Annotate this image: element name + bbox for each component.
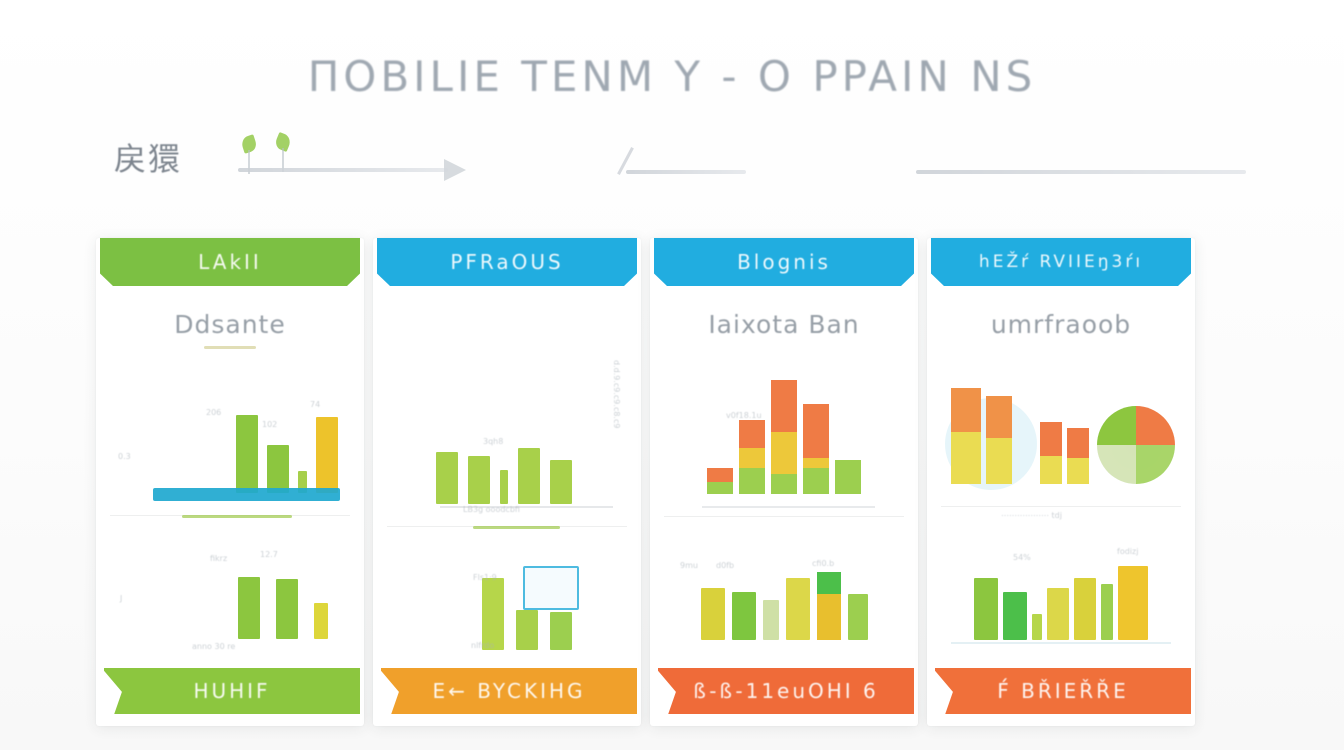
card-1-bottom-banner[interactable]: HUHIF [104, 668, 360, 714]
stacked-bar [786, 578, 810, 640]
card-3-chart-bottom: 9mu d0fb cfi0.b [664, 516, 904, 656]
ghost-label: anno 30 re [192, 642, 235, 651]
bar [276, 579, 298, 639]
bar-chart [387, 530, 627, 650]
bar [1101, 584, 1113, 640]
heading-underline [204, 346, 256, 349]
card-1-top-banner[interactable]: LAkII [100, 238, 360, 286]
ghost-label: Fls1·9 [473, 573, 497, 582]
bar-segment-green [707, 482, 733, 494]
card-4-bottom-banner-label: F́́ BŘIEŘŘE [997, 679, 1128, 703]
tooltip-card [523, 566, 579, 610]
card-2[interactable]: PFRaOUS d.d.9.c9.c9.c8.c9 3qh8 LB3g ooo [373, 238, 641, 726]
bar-segment-green [817, 572, 841, 594]
bar-segment-yellow [1040, 456, 1062, 484]
card-grid: LAkII Ddsante 0.3 206 102 74 [96, 238, 1292, 726]
stacked-bar [763, 600, 779, 640]
bar [468, 456, 490, 504]
bar [550, 612, 572, 650]
card-1-chart-top: 0.3 206 102 74 [110, 359, 350, 509]
divider-line [626, 170, 746, 174]
chart-axis [951, 642, 1172, 644]
bar [518, 448, 540, 504]
subheader-label: 戻獧 [114, 134, 182, 180]
bar [482, 578, 504, 650]
card-4-chart-bottom: ⋯⋯⋯⋯⋯⋯ tdj 54% fodizj [941, 506, 1181, 656]
bar-segment-orange [707, 468, 733, 482]
stacked-bar [986, 396, 1012, 484]
stacked-bar [739, 420, 765, 494]
ghost-label: 9mu [680, 561, 698, 570]
card-2-body: d.d.9.c9.c9.c8.c9 3qh8 LB3g ooodcbfi [373, 286, 641, 726]
bar-segment-green [739, 468, 765, 494]
pie-slice [1136, 445, 1175, 484]
section-accent [473, 526, 559, 529]
bar [236, 415, 258, 493]
ghost-label: 74 [310, 400, 320, 409]
card-1-top-banner-label: LAkII [198, 250, 262, 274]
stacked-bar [1040, 422, 1062, 484]
bar [974, 578, 998, 640]
chart-baseline-bar [153, 488, 340, 501]
bar [1074, 578, 1096, 640]
arrow-right-icon [444, 159, 466, 181]
stacked-bar [803, 404, 829, 494]
subheader-row: 戻獧 [104, 128, 1264, 188]
bar [267, 445, 289, 493]
ghost-label: fodizj [1117, 547, 1138, 556]
stacked-bar [848, 594, 868, 640]
ghost-label: cfi0.b [812, 559, 834, 568]
chart-axis [702, 506, 875, 508]
stacked-bar [835, 460, 861, 494]
card-3-body: Iaixota Ban [650, 286, 918, 726]
bar-chart [387, 384, 627, 504]
pie-chart [1097, 406, 1175, 484]
pie-slice [1097, 445, 1136, 484]
card-4-heading: umrfraoob [941, 310, 1181, 340]
bar [1047, 588, 1069, 640]
bar-segment-orange [771, 380, 797, 432]
bar [1032, 614, 1042, 640]
card-2-bottom-banner[interactable]: E← BYCKIHG [381, 668, 637, 714]
stacked-bar [707, 468, 733, 494]
bar [314, 603, 328, 639]
stacked-bar [951, 388, 981, 484]
bar-chart [110, 373, 350, 493]
bar-segment-yellow [817, 594, 841, 640]
bar-segment-orange [986, 396, 1012, 438]
card-4-chart-top [941, 350, 1181, 500]
bar [500, 470, 508, 504]
ghost-label: 102 [262, 420, 277, 429]
bar [436, 452, 458, 504]
bar-segment-yellow [803, 458, 829, 468]
divider-line [916, 170, 1246, 174]
section-accent [182, 515, 292, 518]
bar-chart [941, 536, 1181, 640]
bar-segment-green [835, 460, 861, 494]
bar-segment-orange [1067, 428, 1089, 458]
bar-segment-orange [803, 404, 829, 458]
card-3[interactable]: Blognis Iaixota Ban [650, 238, 918, 726]
bar-segment-yellow [1067, 458, 1089, 484]
bar-segment-yellow [739, 448, 765, 468]
card-3-top-banner[interactable]: Blognis [654, 238, 914, 286]
bar-segment-yellow [771, 432, 797, 474]
card-2-bottom-banner-label: E← BYCKIHG [432, 679, 585, 703]
card-3-bottom-banner-label: ß-ß-11euOHI 6 [693, 679, 879, 703]
stacked-bar [732, 592, 756, 640]
bar [1003, 592, 1027, 640]
bar-segment-yellow [986, 438, 1012, 484]
card-3-chart-top: v0f18.1u [664, 350, 904, 510]
ghost-label: v0f18.1u [726, 411, 762, 420]
card-4-top-banner[interactable]: hEŽŕ RVIIEŋ3ŕı [931, 238, 1191, 286]
ghost-label: 54% [1013, 553, 1031, 562]
card-4[interactable]: hEŽŕ RVIIEŋ3ŕı umrfraoob [927, 238, 1195, 726]
bar [316, 417, 338, 493]
pie-slice [1097, 406, 1136, 445]
bar-segment-green [771, 474, 797, 494]
ghost-label: LB3g ooodcbfi [463, 505, 520, 514]
stacked-bar [817, 572, 841, 640]
bar-chart [110, 519, 350, 639]
card-3-heading: Iaixota Ban [664, 310, 904, 340]
page-title: ПOBILIE TENM Y - O PPAIN NS [0, 52, 1344, 101]
card-1-body: Ddsante 0.3 206 102 74 [96, 286, 364, 726]
bar-segment-green [803, 468, 829, 494]
card-1[interactable]: LAkII Ddsante 0.3 206 102 74 [96, 238, 364, 726]
ghost-label: 12.7 [260, 550, 278, 559]
bar [1118, 566, 1148, 640]
bar-segment-yellow [951, 432, 981, 484]
page-root: ПOBILIE TENM Y - O PPAIN NS 戻獧 LAkII Dds… [0, 0, 1344, 750]
card-4-body: umrfraoob [927, 286, 1195, 726]
ghost-label: 3qh8 [483, 437, 503, 446]
ghost-label: nlfrdo [471, 641, 494, 650]
stacked-bar [701, 588, 725, 640]
stacked-bar-chart [664, 520, 904, 640]
ghost-label: fikrz [210, 554, 227, 563]
divider-line [238, 168, 448, 172]
card-2-top-banner-label: PFRaOUS [450, 250, 563, 274]
ghost-label: ⋯⋯⋯⋯⋯⋯ tdj [1001, 511, 1062, 520]
card-1-heading: Ddsante [110, 310, 350, 340]
card-4-top-banner-label: hEŽŕ RVIIEŋ3ŕı [979, 252, 1143, 272]
stacked-bar [1067, 428, 1089, 484]
card-2-top-banner[interactable]: PFRaOUS [377, 238, 637, 286]
card-2-chart-top: d.d.9.c9.c9.c8.c9 3qh8 LB3g ooodcbfi [387, 350, 627, 520]
card-1-bottom-banner-label: HUHIF [193, 679, 270, 703]
bar [238, 577, 260, 639]
pie-slice [1136, 406, 1175, 445]
stacked-bar-chart [664, 374, 904, 494]
bar-segment-orange [739, 420, 765, 448]
ghost-label: d0fb [716, 561, 734, 570]
ghost-label: 206 [206, 408, 221, 417]
bar [550, 460, 572, 504]
card-1-chart-bottom: J fikrz 12.7 anno 30 re [110, 515, 350, 655]
bar-segment-orange [951, 388, 981, 432]
card-3-bottom-banner[interactable]: ß-ß-11euOHI 6 [658, 668, 914, 714]
bar-segment-orange [1040, 422, 1062, 456]
card-4-bottom-banner[interactable]: F́́ BŘIEŘŘE [935, 668, 1191, 714]
bar [516, 610, 538, 650]
card-2-chart-bottom: Fls1·9 nlfrdo [387, 526, 627, 666]
stacked-bar [771, 380, 797, 494]
card-2-heading [387, 310, 627, 340]
card-3-top-banner-label: Blognis [737, 250, 831, 274]
